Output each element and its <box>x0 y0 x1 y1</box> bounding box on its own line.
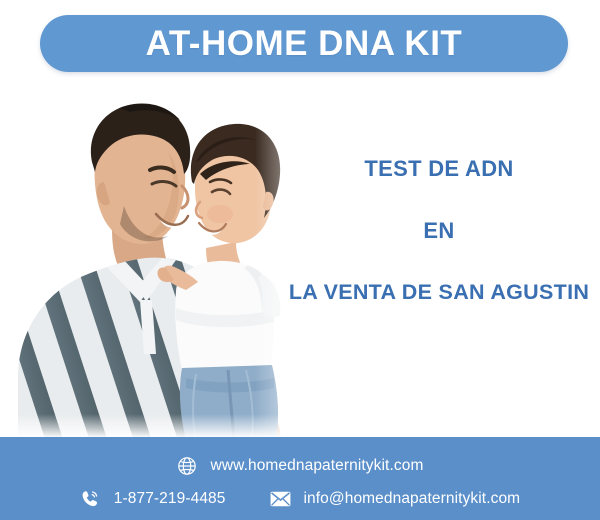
headline-line-2: EN <box>278 220 600 242</box>
headline-line-3: LA VENTA DE SAN AGUSTIN <box>278 282 600 304</box>
phone-icon <box>80 488 101 509</box>
phone-item[interactable]: 1-877-219-4485 <box>80 488 226 509</box>
headline-line-1: TEST DE ADN <box>278 158 600 180</box>
footer-contact-bar: www.homednapaternitykit.com 1-877-219-44… <box>0 437 600 520</box>
header-banner: AT-HOME DNA KIT <box>40 15 568 72</box>
poster-canvas: AT-HOME DNA KIT <box>0 0 600 520</box>
website-item[interactable]: www.homednapaternitykit.com <box>177 455 424 476</box>
email-address[interactable]: info@homednapaternitykit.com <box>304 490 521 508</box>
email-item[interactable]: info@homednapaternitykit.com <box>270 488 521 509</box>
website-url[interactable]: www.homednapaternitykit.com <box>211 457 424 475</box>
footer-contact-row: 1-877-219-4485 info@homednapaternitykit.… <box>0 488 600 509</box>
globe-icon <box>177 455 198 476</box>
page-title: AT-HOME DNA KIT <box>146 26 463 61</box>
footer-website-row: www.homednapaternitykit.com <box>0 455 600 476</box>
headline-block: TEST DE ADN EN LA VENTA DE SAN AGUSTIN <box>278 158 600 304</box>
envelope-icon <box>270 488 291 509</box>
phone-number[interactable]: 1-877-219-4485 <box>114 490 226 508</box>
